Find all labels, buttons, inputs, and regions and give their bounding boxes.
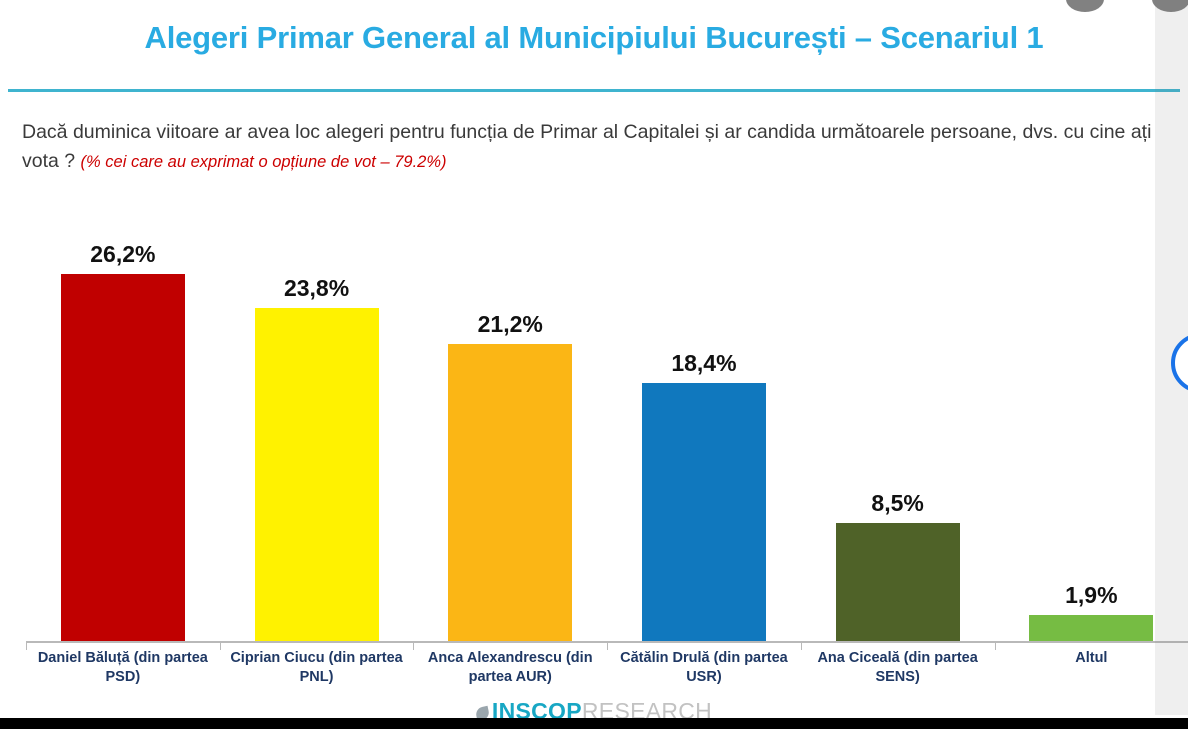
slide-screenshot: Alegeri Primar General al Municipiului B…	[0, 0, 1188, 729]
bar	[1029, 615, 1153, 642]
bar	[448, 344, 572, 642]
category-label: Altul	[995, 649, 1188, 668]
category-label: Daniel Băluță (din partea PSD)	[26, 649, 220, 687]
bar-value-label: 21,2%	[448, 311, 572, 338]
bar	[255, 308, 379, 642]
bar-group: 18,4%	[642, 201, 766, 642]
question-text: Dacă duminica viitoare ar avea loc alege…	[22, 118, 1182, 177]
title-divider	[8, 89, 1180, 92]
category-label: Ana Ciceală (din partea SENS)	[801, 649, 995, 687]
bar-value-label: 23,8%	[255, 275, 379, 302]
bar-group: 26,2%	[61, 201, 185, 642]
bar-group: 8,5%	[836, 201, 960, 642]
bar-value-label: 8,5%	[836, 490, 960, 517]
bar-value-label: 18,4%	[642, 350, 766, 377]
bar-value-label: 26,2%	[61, 241, 185, 268]
bar-chart-plot: 26,2%23,8%21,2%18,4%8,5%1,9%	[0, 200, 1188, 642]
bar-group: 1,9%	[1029, 201, 1153, 642]
category-label: Ciprian Ciucu (din partea PNL)	[220, 649, 414, 687]
question-note: (% cei care au exprimat o opțiune de vot…	[81, 153, 447, 171]
bar	[836, 523, 960, 642]
category-label: Anca Alexandrescu (din partea AUR)	[413, 649, 607, 687]
bottom-black-bar	[0, 718, 1188, 729]
top-control-right[interactable]	[1152, 0, 1188, 12]
bar-value-label: 1,9%	[1029, 582, 1153, 609]
top-control-left[interactable]	[1066, 0, 1104, 12]
bar-group: 23,8%	[255, 201, 379, 642]
bar	[61, 274, 185, 642]
bar	[642, 383, 766, 642]
bar-group: 21,2%	[448, 201, 572, 642]
category-label: Cătălin Drulă (din partea USR)	[607, 649, 801, 687]
page-title: Alegeri Primar General al Municipiului B…	[0, 20, 1188, 56]
